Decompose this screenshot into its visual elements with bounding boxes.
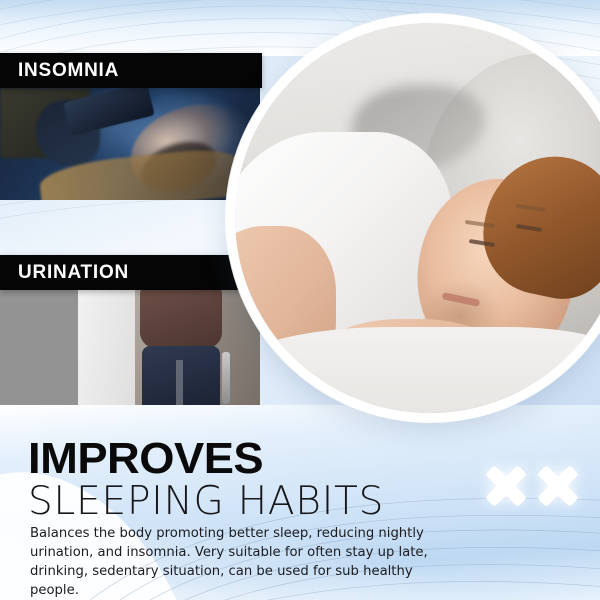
- body-copy: Balances the body promoting better sleep…: [30, 524, 460, 600]
- hero-bedsheet: [235, 327, 600, 413]
- urination-photo-pipe: [222, 352, 230, 404]
- hero-photo-sleeping-man: [235, 23, 600, 413]
- label-insomnia: INSOMNIA: [0, 60, 119, 82]
- headline-secondary: SLEEPING HABITS: [28, 482, 384, 522]
- label-bar-insomnia: INSOMNIA: [0, 53, 262, 88]
- label-bar-urination: URINATION: [0, 255, 262, 290]
- x-mark-icon: [536, 464, 580, 508]
- decorative-x-marks: [484, 462, 580, 514]
- headline-primary: IMPROVES: [28, 437, 395, 480]
- urination-photo-wall: [78, 290, 135, 405]
- x-mark-icon: [484, 464, 528, 508]
- panel-photo-urination: [0, 290, 260, 405]
- ad-creative: INSOMNIA URINATION: [0, 0, 600, 600]
- urination-photo-shirt: [140, 290, 222, 350]
- urination-photo-leg-gap: [176, 360, 183, 405]
- headline-block: IMPROVES SLEEPING HABITS: [28, 437, 384, 522]
- hero-circle-frame: [226, 14, 600, 422]
- label-urination: URINATION: [0, 262, 129, 284]
- panel-photo-insomnia: [0, 88, 260, 200]
